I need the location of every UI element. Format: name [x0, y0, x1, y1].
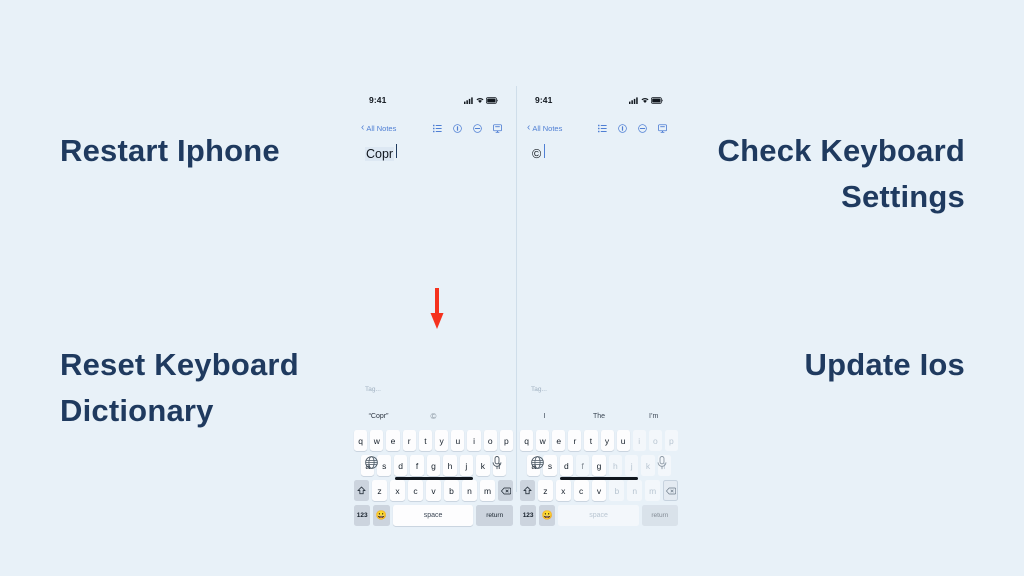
- markup-icon[interactable]: [638, 124, 647, 133]
- notes-nav-bar: ‹ All Notes: [517, 119, 681, 137]
- home-indicator: [560, 477, 638, 480]
- cellular-signal-icon: [629, 97, 638, 104]
- notes-nav-bar: ‹ All Notes: [351, 119, 516, 137]
- checklist-icon[interactable]: [598, 124, 607, 133]
- key-y[interactable]: y: [601, 430, 614, 451]
- keyboard-bottom-bar: [351, 450, 516, 492]
- keyboard-row-4: 123 😀 space return: [520, 504, 678, 527]
- key-r[interactable]: r: [403, 430, 416, 451]
- cellular-signal-icon: [464, 97, 473, 104]
- emoji-icon[interactable]: 😀: [373, 505, 389, 526]
- key-e[interactable]: e: [386, 430, 399, 451]
- prediction-candidate-3[interactable]: I’m: [626, 413, 681, 420]
- phone-mockup-pair: 9:41 ‹: [351, 86, 681, 492]
- status-bar-clock: 9:41: [535, 95, 552, 105]
- keyboard-row-4: 123 😀 space return: [354, 504, 513, 527]
- text-caret: [544, 144, 546, 158]
- back-button-label: All Notes: [366, 124, 396, 133]
- key-y[interactable]: y: [435, 430, 448, 451]
- keyboard-row-1: q w e r t y u i o p: [354, 429, 513, 452]
- label-check-keyboard-settings: Check Keyboard Settings: [635, 128, 965, 219]
- key-p[interactable]: p: [500, 430, 513, 451]
- notes-toolbar: [598, 124, 671, 133]
- wifi-icon: [476, 97, 484, 104]
- compose-icon[interactable]: [493, 124, 502, 133]
- chevron-left-icon: ‹: [361, 123, 364, 133]
- chevron-left-icon: ‹: [527, 123, 530, 133]
- label-restart-iphone: Restart Iphone: [60, 128, 360, 174]
- key-o[interactable]: o: [484, 430, 497, 451]
- keyboard-bottom-bar: [517, 450, 681, 492]
- key-w[interactable]: w: [536, 430, 549, 451]
- down-arrow-icon: [430, 288, 444, 330]
- status-bar: 9:41: [351, 92, 516, 108]
- camera-icon[interactable]: [453, 124, 462, 133]
- status-bar: 9:41: [517, 92, 681, 108]
- battery-icon: [651, 97, 663, 104]
- globe-icon[interactable]: [531, 456, 544, 469]
- key-t[interactable]: t: [419, 430, 432, 451]
- prediction-candidate-1[interactable]: I: [517, 413, 572, 420]
- label-reset-keyboard-dictionary: Reset Keyboard Dictionary: [60, 342, 370, 433]
- note-text-content[interactable]: ©: [531, 147, 542, 161]
- note-body[interactable]: ©: [517, 144, 681, 349]
- status-bar-clock: 9:41: [369, 95, 386, 105]
- key-p[interactable]: p: [665, 430, 678, 451]
- key-u[interactable]: u: [451, 430, 464, 451]
- phone-right: 9:41 ‹: [516, 86, 681, 492]
- key-r[interactable]: r: [568, 430, 581, 451]
- note-text-value: ©: [532, 147, 541, 161]
- return-key[interactable]: return: [476, 505, 513, 526]
- prediction-candidate-2[interactable]: ©: [406, 412, 461, 421]
- back-to-all-notes-button[interactable]: ‹ All Notes: [527, 123, 562, 133]
- key-i[interactable]: i: [467, 430, 480, 451]
- status-bar-icons: [629, 97, 663, 104]
- tag-placeholder[interactable]: Tag...: [365, 386, 381, 393]
- wifi-icon: [641, 97, 649, 104]
- markup-icon[interactable]: [473, 124, 482, 133]
- key-e[interactable]: e: [552, 430, 565, 451]
- microphone-icon[interactable]: [657, 456, 667, 470]
- back-to-all-notes-button[interactable]: ‹ All Notes: [361, 123, 396, 133]
- globe-icon[interactable]: [365, 456, 378, 469]
- home-indicator: [395, 477, 473, 480]
- text-caret: [396, 144, 398, 158]
- space-key[interactable]: space: [393, 505, 474, 526]
- emoji-icon[interactable]: 😀: [539, 505, 555, 526]
- predictive-text-bar: “Copr” ©: [351, 406, 516, 426]
- note-text-content[interactable]: Copr: [365, 147, 394, 161]
- key-u[interactable]: u: [617, 430, 630, 451]
- notes-toolbar: [433, 124, 506, 133]
- keyboard-row-1: q w e r t y u i o p: [520, 429, 678, 452]
- key-i[interactable]: i: [633, 430, 646, 451]
- camera-icon[interactable]: [618, 124, 627, 133]
- label-update-ios: Update Ios: [665, 342, 965, 388]
- numbers-key[interactable]: 123: [354, 505, 370, 526]
- note-text-value: Copr: [366, 147, 393, 161]
- prediction-candidate-2[interactable]: The: [572, 413, 627, 420]
- checklist-icon[interactable]: [433, 124, 442, 133]
- compose-icon[interactable]: [658, 124, 667, 133]
- key-q[interactable]: q: [520, 430, 533, 451]
- back-button-label: All Notes: [532, 124, 562, 133]
- key-o[interactable]: o: [649, 430, 662, 451]
- key-q[interactable]: q: [354, 430, 367, 451]
- key-w[interactable]: w: [370, 430, 383, 451]
- microphone-icon[interactable]: [492, 456, 502, 470]
- battery-icon: [486, 97, 498, 104]
- return-key[interactable]: return: [642, 505, 678, 526]
- status-bar-icons: [464, 97, 498, 104]
- prediction-candidate-1[interactable]: “Copr”: [351, 413, 406, 420]
- space-key[interactable]: space: [558, 505, 638, 526]
- predictive-text-bar: I The I’m: [517, 406, 681, 426]
- key-t[interactable]: t: [584, 430, 597, 451]
- numbers-key[interactable]: 123: [520, 505, 536, 526]
- tag-placeholder[interactable]: Tag...: [531, 386, 547, 393]
